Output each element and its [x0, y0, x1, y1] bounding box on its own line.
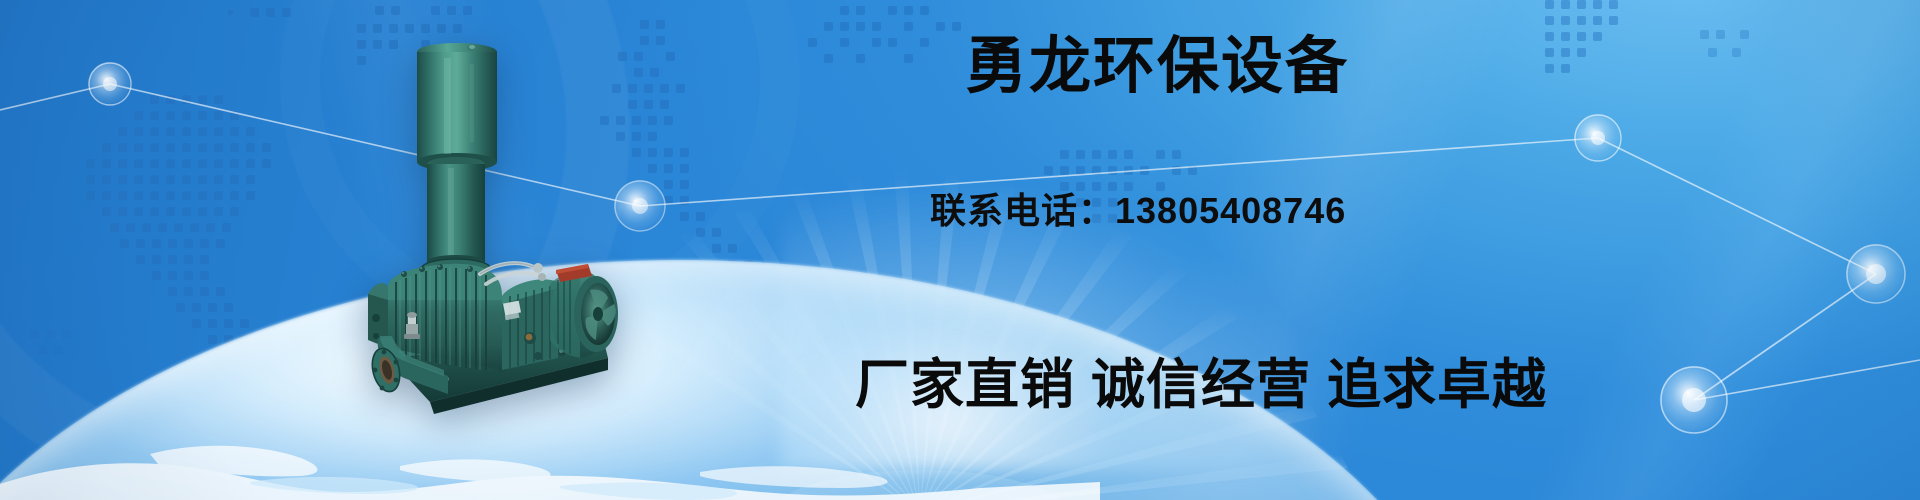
background-vignette	[0, 0, 1920, 500]
promo-banner: 勇龙环保设备 联系电话：13805408746 厂家直销 诚信经营 追求卓越	[0, 0, 1920, 500]
